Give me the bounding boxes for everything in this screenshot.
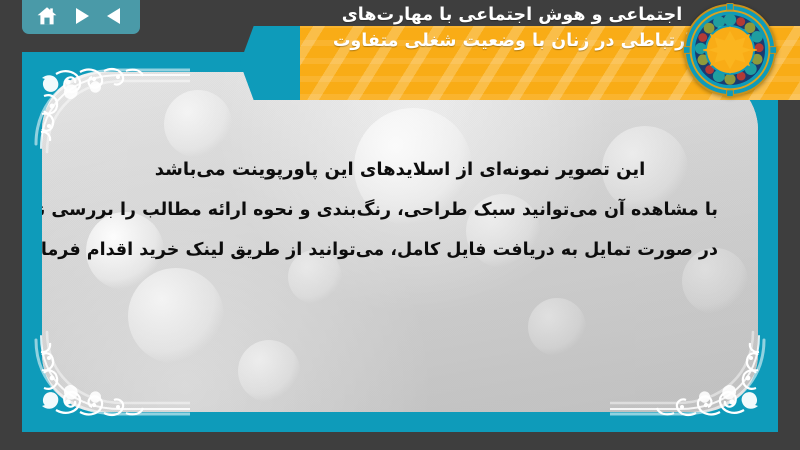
body-line-1: این تصویر نمونه‌ای از اسلایدهای این پاور… bbox=[82, 150, 718, 190]
persian-medallion-ornament bbox=[682, 2, 778, 98]
slide-viewer: این تصویر نمونه‌ای از اسلایدهای این پاور… bbox=[0, 0, 800, 450]
home-button[interactable] bbox=[33, 3, 61, 29]
forward-button[interactable] bbox=[67, 3, 95, 29]
body-line-3: در صورت تمایل به دریافت فایل کامل، می‌تو… bbox=[82, 230, 718, 270]
body-line-2: با مشاهده آن می‌توانید سبک طراحی، رنگ‌بن… bbox=[82, 190, 718, 230]
back-button[interactable] bbox=[101, 3, 129, 29]
slide-canvas: این تصویر نمونه‌ای از اسلایدهای این پاور… bbox=[42, 72, 758, 412]
home-icon bbox=[36, 6, 58, 26]
triangle-left-icon bbox=[105, 7, 125, 25]
navigation-bar bbox=[22, 0, 140, 34]
slide-frame: این تصویر نمونه‌ای از اسلایدهای این پاور… bbox=[22, 52, 778, 432]
banner-tail bbox=[240, 26, 302, 100]
triangle-right-icon bbox=[71, 7, 91, 25]
slide-body-text: این تصویر نمونه‌ای از اسلایدهای این پاور… bbox=[82, 150, 718, 270]
